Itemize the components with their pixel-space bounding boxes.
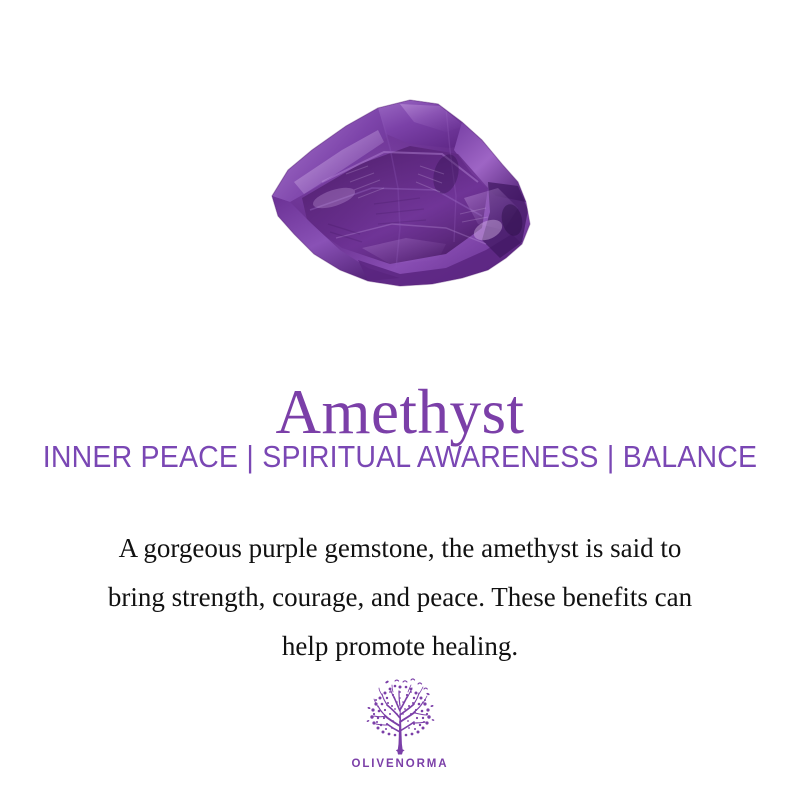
product-info-card: Amethyst INNER PEACE|SPIRITUAL AWARENESS…	[0, 0, 800, 800]
keyword-balance: BALANCE	[623, 439, 757, 474]
keyword-separator: |	[599, 437, 623, 477]
description-line: help promote healing.	[50, 622, 750, 671]
hero-image-area	[0, 0, 800, 320]
brand-wordmark: OLIVENORMA	[352, 758, 449, 770]
description-text: A gorgeous purple gemstone, the amethyst…	[50, 524, 750, 671]
description-line: A gorgeous purple gemstone, the amethyst…	[50, 524, 750, 573]
brand-logo: OLIVENORMA	[0, 678, 800, 770]
tree-of-life-icon	[357, 678, 443, 756]
keyword-list: INNER PEACE|SPIRITUAL AWARENESS|BALANCE	[32, 437, 768, 477]
keyword-inner-peace: INNER PEACE	[43, 439, 238, 474]
description-line: bring strength, courage, and peace. Thes…	[50, 573, 750, 622]
amethyst-crystal-image	[250, 78, 560, 298]
keyword-spiritual-awareness: SPIRITUAL AWARENESS	[262, 439, 598, 474]
keyword-separator: |	[238, 437, 262, 477]
